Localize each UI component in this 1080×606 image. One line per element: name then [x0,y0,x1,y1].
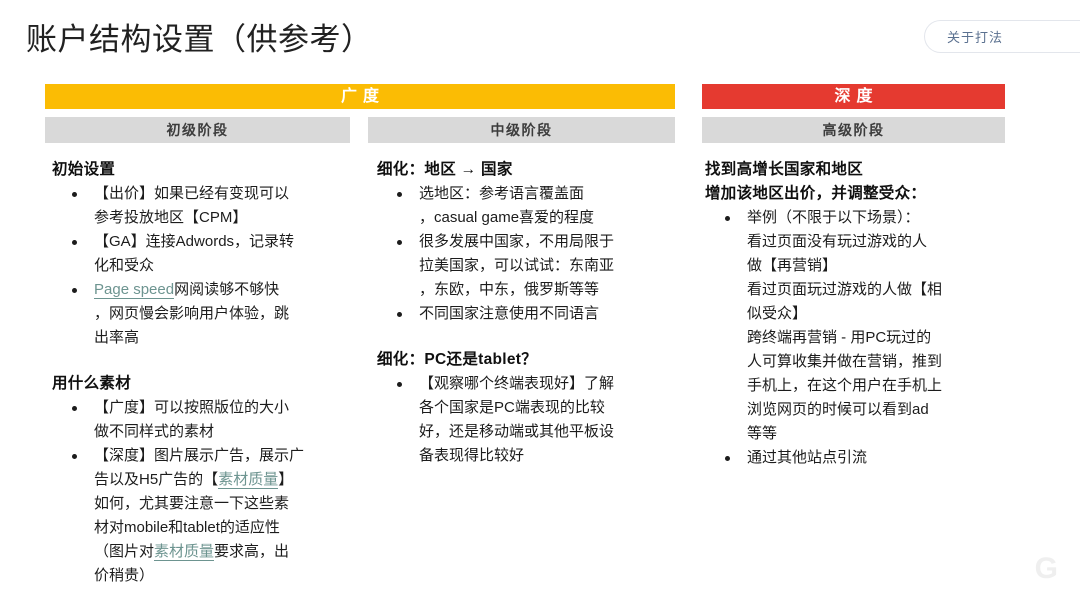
inline-link[interactable]: 素材质量 [218,471,278,489]
bullet-line: 【广度】可以按照版位的大小 [94,396,352,420]
section-heading: 细化：地区 → 国家 [377,158,682,181]
bullet-line: 不同国家注意使用不同语言 [419,302,682,326]
bullet-line: 做不同样式的素材 [94,420,352,444]
bullet-line: 等等 [747,422,1007,446]
section-heading: 找到高增长国家和地区 [705,158,1007,181]
bullet-line: 【出价】如果已经有变现可以 [94,182,352,206]
page-title: 账户结构设置（供参考） [26,20,373,60]
bullet-line: Page speed网阅读够不够快 [94,278,352,302]
bullet-line: 浏览网页的时候可以看到ad [747,398,1007,422]
list-item: 不同国家注意使用不同语言 [377,302,682,326]
bullet-line: 材对mobile和tablet的适应性 [94,516,352,540]
list-item: 【出价】如果已经有变现可以参考投放地区【CPM】 [52,182,352,230]
band-header-breadth: 广度 [45,84,675,109]
inline-link[interactable]: Page speed [94,281,174,299]
list-item: 通过其他站点引流 [705,446,1007,470]
band-header-depth: 深度 [702,84,1005,109]
bullet-line: 好，还是移动端或其他平板设 [419,420,682,444]
bullet-line: 拉美国家，可以试试：东南亚 [419,254,682,278]
bullet-line: 出率高 [94,326,352,350]
bullet-line: 【GA】连接Adwords，记录转 [94,230,352,254]
list-item: 【广度】可以按照版位的大小做不同样式的素材 [52,396,352,444]
bullet-line: （图片对素材质量要求高，出 [94,540,352,564]
bullet-line: 跨终端再营销 - 用PC玩过的 [747,326,1007,350]
list-item: 【深度】图片展示广告，展示广告以及H5广告的【素材质量】如何，尤其要注意一下这些… [52,444,352,588]
stage-label-beginner: 初级阶段 [167,123,229,137]
section-heading: 用什么素材 [52,372,352,395]
bullet-line: 很多发展中国家，不用局限于 [419,230,682,254]
bullet-line: 化和受众 [94,254,352,278]
content-column-beginner: 初始设置【出价】如果已经有变现可以参考投放地区【CPM】【GA】连接Adword… [52,158,352,588]
bullet-line: 选地区：参考语言覆盖面 [419,182,682,206]
bullet-line: 似受众】 [747,302,1007,326]
bullet-line: ，网页慢会影响用户体验，跳 [94,302,352,326]
bullet-line: 做【再营销】 [747,254,1007,278]
bullet-line: 参考投放地区【CPM】 [94,206,352,230]
stage-header-advanced: 高级阶段 [702,117,1005,143]
topic-pill-label: 关于打法 [947,27,1003,46]
bullet-line: 【观察哪个终端表现好】了解 [419,372,682,396]
list-item: 【GA】连接Adwords，记录转化和受众 [52,230,352,278]
bullet-line: 看过页面玩过游戏的人做【相 [747,278,1007,302]
list-item: Page speed网阅读够不够快，网页慢会影响用户体验，跳出率高 [52,278,352,350]
inline-link[interactable]: 素材质量 [154,543,214,561]
topic-pill-button[interactable]: 关于打法 [924,20,1080,53]
band-label-breadth: 广度 [335,89,385,105]
bullet-line: 看过页面没有玩过游戏的人 [747,230,1007,254]
list-item: 举例（不限于以下场景）：看过页面没有玩过游戏的人做【再营销】看过页面玩过游戏的人… [705,206,1007,446]
bullet-line: 如何，尤其要注意一下这些素 [94,492,352,516]
bullet-line: 人可算收集并做在营销，推到 [747,350,1007,374]
list-item: 【观察哪个终端表现好】了解各个国家是PC端表现的比较好，还是移动端或其他平板设备… [377,372,682,468]
section-heading: 初始设置 [52,158,352,181]
bullet-line: 备表现得比较好 [419,444,682,468]
bullet-line: ，casual game喜爱的程度 [419,206,682,230]
stage-header-beginner: 初级阶段 [45,117,350,143]
bullet-list: 【广度】可以按照版位的大小做不同样式的素材【深度】图片展示广告，展示广告以及H5… [52,396,352,588]
stage-header-intermediate: 中级阶段 [368,117,675,143]
stage-label-advanced: 高级阶段 [823,123,885,137]
list-item: 选地区：参考语言覆盖面，casual game喜爱的程度 [377,182,682,230]
content-column-intermediate: 细化：地区 → 国家选地区：参考语言覆盖面，casual game喜爱的程度很多… [377,158,682,468]
bullet-line: 手机上，在这个用户在手机上 [747,374,1007,398]
bullet-list: 选地区：参考语言覆盖面，casual game喜爱的程度很多发展中国家，不用局限… [377,182,682,326]
bullet-line: 【深度】图片展示广告，展示广 [94,444,352,468]
bullet-line: 告以及H5广告的【素材质量】 [94,468,352,492]
bullet-line: ，东欧，中东，俄罗斯等等 [419,278,682,302]
google-logo-icon: G [1035,554,1058,584]
bullet-line: 价稍贵） [94,564,352,588]
section-subheading: 增加该地区出价，并调整受众： [705,182,1007,205]
list-item: 很多发展中国家，不用局限于拉美国家，可以试试：东南亚，东欧，中东，俄罗斯等等 [377,230,682,302]
bullet-list: 【出价】如果已经有变现可以参考投放地区【CPM】【GA】连接Adwords，记录… [52,182,352,350]
content-column-advanced: 找到高增长国家和地区增加该地区出价，并调整受众：举例（不限于以下场景）：看过页面… [705,158,1007,470]
bullet-list: 【观察哪个终端表现好】了解各个国家是PC端表现的比较好，还是移动端或其他平板设备… [377,372,682,468]
band-label-depth: 深度 [828,89,878,105]
bullet-line: 通过其他站点引流 [747,446,1007,470]
bullet-line: 各个国家是PC端表现的比较 [419,396,682,420]
bullet-line: 举例（不限于以下场景）： [747,206,1007,230]
stage-label-intermediate: 中级阶段 [491,123,553,137]
bullet-list: 举例（不限于以下场景）：看过页面没有玩过游戏的人做【再营销】看过页面玩过游戏的人… [705,206,1007,470]
section-heading: 细化：PC还是tablet？ [377,348,682,371]
